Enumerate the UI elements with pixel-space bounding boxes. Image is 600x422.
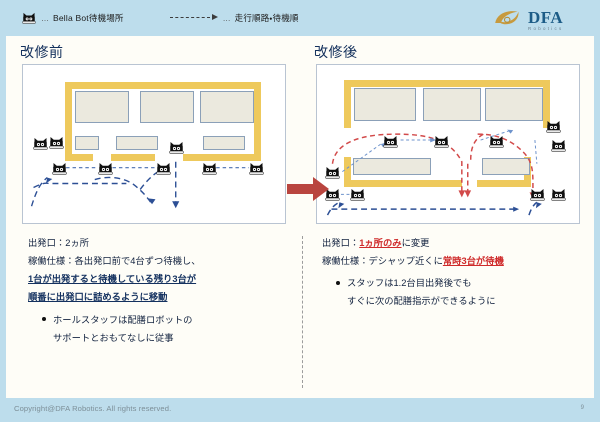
dfa-swirl-icon xyxy=(492,7,524,33)
cat-robot-icon xyxy=(156,162,171,175)
legend-route-dots: … xyxy=(223,14,230,23)
bullet-line: スタッフは1.2台目出発後でも xyxy=(347,278,472,288)
text-line: 出発口：2ヵ所 xyxy=(28,234,296,252)
copyright-text: Copyright@DFA Robotics. All rights reser… xyxy=(14,404,171,413)
cat-robot-icon xyxy=(22,12,36,24)
bullet-line: ホールスタッフは配膳ロボットの xyxy=(53,315,192,325)
text-segment: 出発口： xyxy=(322,238,359,248)
cat-robot-icon xyxy=(49,136,64,149)
floorplan-after xyxy=(316,64,580,224)
cat-robot-icon xyxy=(52,162,67,175)
cat-robot-icon xyxy=(249,162,264,175)
text-line: 稼働仕様：デシャップ近くに常時3台が待機 xyxy=(322,252,590,270)
cat-robot-icon xyxy=(98,162,113,175)
bullet-line: サポートとおもてなしに従事 xyxy=(53,333,174,343)
floorplan-before xyxy=(22,64,286,224)
dashed-arrow-icon xyxy=(170,14,218,22)
text-after: 出発口：1ヵ所のみに変更 稼働仕様：デシャップ近くに常時3台が待機 スタッフは1… xyxy=(322,234,590,311)
cat-robot-icon xyxy=(202,162,217,175)
bullet-dot-icon xyxy=(42,317,46,321)
list-item: ホールスタッフは配膳ロボットの サポートとおもてなしに従事 xyxy=(42,311,296,347)
legend-robot-label: Bella Bot待機場所 xyxy=(53,12,124,24)
text-segment: 出発口：2ヵ所 xyxy=(28,238,89,248)
bullet-text: スタッフは1.2台目出発後でも すぐに次の配膳指示ができるように xyxy=(347,274,496,310)
text-segment-underlined: 常時3台が待機 xyxy=(443,256,504,266)
cat-robot-icon xyxy=(546,120,561,133)
cat-robot-icon xyxy=(383,135,398,148)
text-segment: に変更 xyxy=(402,238,430,248)
cat-robot-icon xyxy=(33,137,48,150)
column-after-title: 改修後 xyxy=(314,42,358,62)
legend-route-label: 走行順路・待機順 xyxy=(235,12,299,24)
cat-robot-icon xyxy=(489,135,504,148)
bullet-list: ホールスタッフは配膳ロボットの サポートとおもてなしに従事 xyxy=(28,311,296,347)
cat-robot-icon xyxy=(434,135,449,148)
bullet-dot-icon xyxy=(336,281,340,285)
company-logo: DFA Robotics xyxy=(492,4,584,36)
text-segment-underlined: 1ヵ所のみ xyxy=(359,238,401,248)
text-line: 出発口：1ヵ所のみに変更 xyxy=(322,234,590,252)
cat-robot-icon xyxy=(350,188,365,201)
right-arrow-icon xyxy=(287,176,329,202)
text-line-highlight: 1台が出発すると待機している残り3台が xyxy=(28,270,296,288)
column-before-title: 改修前 xyxy=(20,42,64,62)
content-panel: 改修前 xyxy=(6,36,594,398)
legend-robot-dots: … xyxy=(41,14,48,23)
cat-robot-icon xyxy=(551,188,566,201)
cat-robot-icon xyxy=(530,188,545,201)
text-segment-underlined: 1台が出発すると待機している残り3台が xyxy=(28,274,196,284)
cat-robot-icon xyxy=(169,141,184,154)
text-line: 稼働仕様：各出発口前で4台ずつ待機し、 xyxy=(28,252,296,270)
cat-robot-icon xyxy=(551,139,566,152)
logo-name: DFA xyxy=(528,9,563,26)
text-segment-underlined: 順番に出発口に詰めるように移動 xyxy=(28,292,167,302)
bullet-text: ホールスタッフは配膳ロボットの サポートとおもてなしに従事 xyxy=(53,311,192,347)
logo-wordmark: DFA Robotics xyxy=(528,9,563,32)
transition-arrow xyxy=(287,176,329,202)
legend-item-robot: … Bella Bot待機場所 xyxy=(22,12,124,24)
text-segment: 稼働仕様：各出発口前で4台ずつ待機し、 xyxy=(28,256,201,266)
bullet-line: すぐに次の配膳指示ができるように xyxy=(347,296,496,306)
logo-subtitle: Robotics xyxy=(528,27,563,31)
footer: Copyright@DFA Robotics. All rights reser… xyxy=(0,398,600,422)
text-segment: 稼働仕様：デシャップ近くに xyxy=(322,256,443,266)
bullet-list: スタッフは1.2台目出発後でも すぐに次の配膳指示ができるように xyxy=(322,274,590,310)
page-number: 9 xyxy=(581,405,584,411)
text-before: 出発口：2ヵ所 稼働仕様：各出発口前で4台ずつ待機し、 1台が出発すると待機して… xyxy=(28,234,296,347)
list-item: スタッフは1.2台目出発後でも すぐに次の配膳指示ができるように xyxy=(336,274,590,310)
legend-item-route: … 走行順路・待機順 xyxy=(170,12,299,24)
slide-root: … Bella Bot待機場所 … 走行順路・待機順 DFA Robotics xyxy=(0,0,600,422)
text-line-highlight: 順番に出発口に詰めるように移動 xyxy=(28,288,296,306)
column-before: 改修前 xyxy=(8,36,300,398)
column-after: 改修後 xyxy=(302,36,594,398)
